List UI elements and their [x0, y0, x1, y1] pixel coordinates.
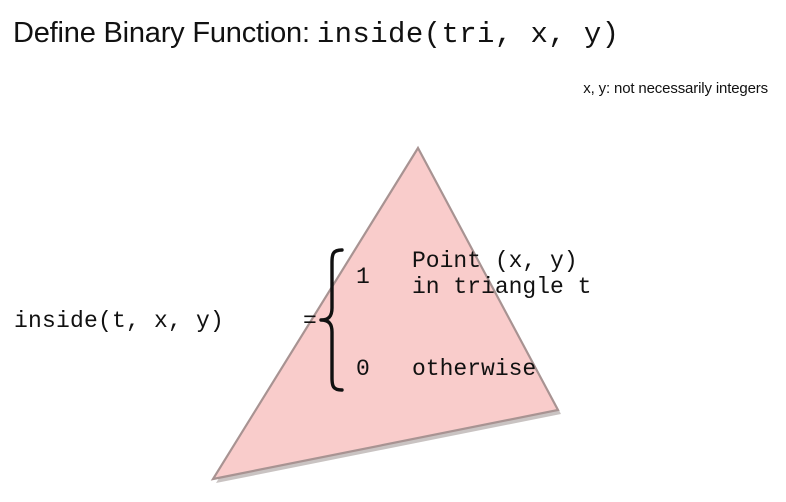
case-description-one: Point (x, y) in triangle t	[412, 248, 591, 300]
subtitle-note: x, y: not necessarily integers	[583, 80, 768, 97]
page-title: Define Binary Function:inside(tri, x, y)	[13, 19, 619, 49]
triangle-shadow	[216, 152, 561, 483]
case-description-zero: otherwise	[412, 356, 536, 382]
equals-sign: =	[303, 308, 317, 334]
equation-left-hand-side: inside(t, x, y)	[14, 308, 224, 334]
triangle-shape	[213, 148, 558, 479]
page-title-code: inside(tri, x, y)	[317, 18, 620, 51]
case-description-zero-line-1: otherwise	[412, 356, 536, 382]
case-description-one-line-2: in triangle t	[412, 274, 591, 300]
curly-brace-icon	[318, 246, 348, 394]
case-description-one-line-1: Point (x, y)	[412, 248, 591, 274]
page-title-prose: Define Binary Function:	[13, 17, 310, 49]
slide-canvas: Define Binary Function:inside(tri, x, y)…	[0, 0, 786, 502]
triangle-figure	[0, 0, 786, 502]
case-value-one: 1	[356, 264, 370, 290]
case-value-zero: 0	[356, 356, 370, 382]
